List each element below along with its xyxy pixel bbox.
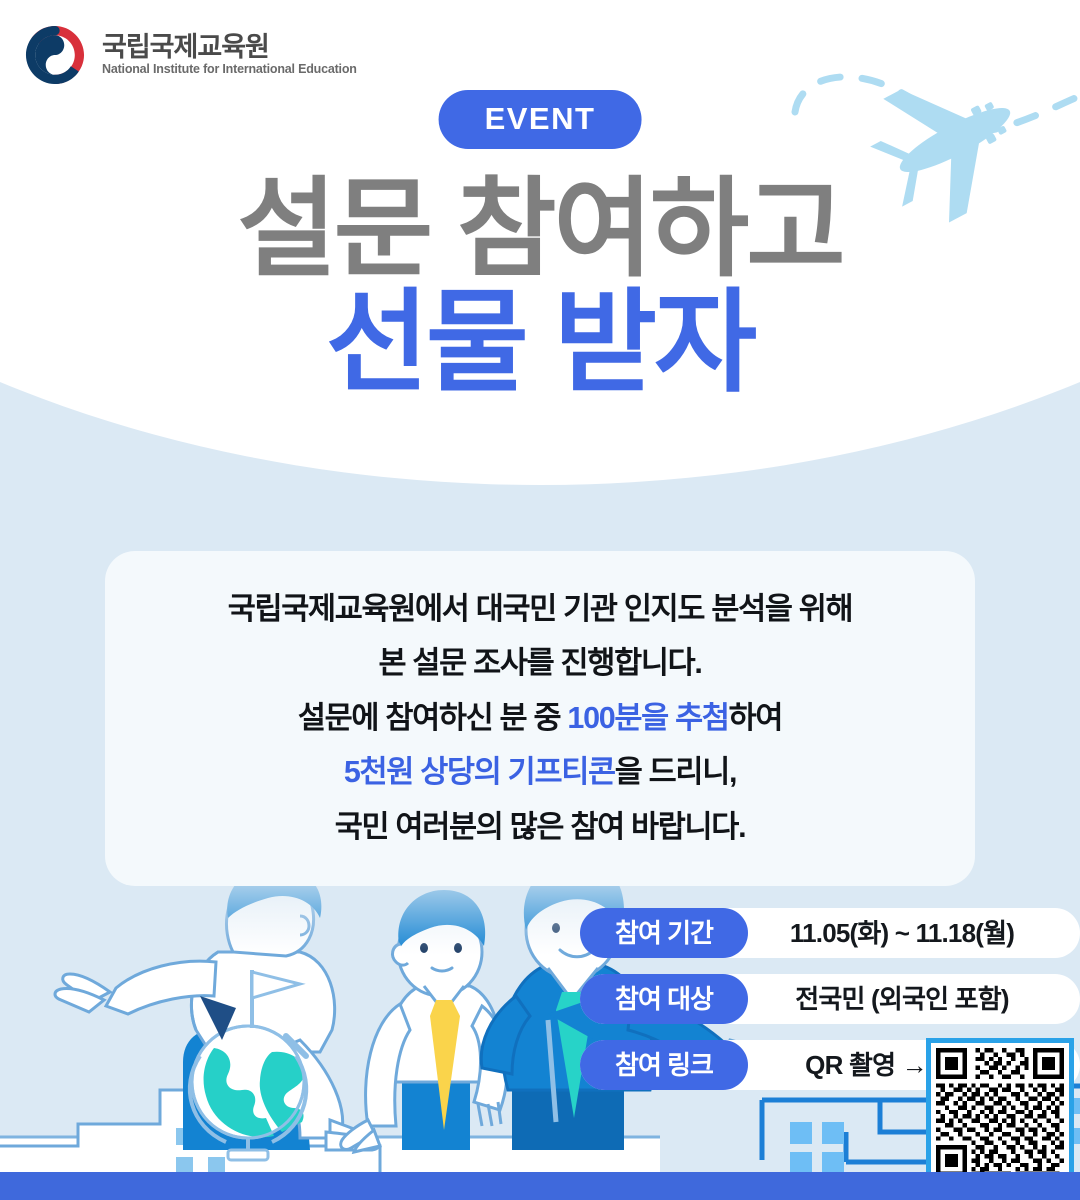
headline-line-1: 설문 참여하고 [0, 176, 1080, 282]
info-value: 11.05(화) ~ 11.18(월) [748, 920, 1056, 946]
info-value: 전국민 (외국인 포함) [748, 986, 1056, 1012]
description-text: 을 드리니, [615, 755, 736, 789]
brand-name-ko: 국립국제교육원 [102, 33, 357, 61]
description-line: 설문에 참여하신 분 중 100분을 추첨하여 [298, 694, 782, 743]
description-text: 하여 [729, 701, 783, 735]
description-highlight: 100분을 추첨 [567, 701, 728, 735]
description-text: 설문에 참여하신 분 중 [298, 701, 568, 735]
footer-bar [0, 1172, 1080, 1200]
description-line: 본 설문 조사를 진행합니다. [378, 639, 701, 688]
brand-logo: 국립국제교육원 National Institute for Internati… [22, 22, 357, 88]
info-label-pill: 참여 기간 [580, 908, 748, 958]
page-title: 설문 참여하고 선물 받자 [0, 176, 1080, 398]
description-card: 국립국제교육원에서 대국민 기관 인지도 분석을 위해본 설문 조사를 진행합니… [105, 551, 975, 886]
description-line: 5천원 상당의 기프티콘을 드리니, [344, 748, 736, 797]
qr-code[interactable] [926, 1038, 1074, 1186]
korea-government-taegeuk-emblem [22, 22, 88, 88]
event-badge: EVENT [439, 90, 642, 149]
description-text: 국민 여러분의 많은 참여 바랍니다. [335, 810, 746, 844]
description-highlight: 5천원 상당의 기프티콘 [344, 755, 615, 789]
description-line: 국립국제교육원에서 대국민 기관 인지도 분석을 위해 [228, 585, 853, 634]
info-row: 참여 대상전국민 (외국인 포함) [580, 974, 1080, 1024]
qr-code-icon [936, 1048, 1064, 1176]
brand-name-en: National Institute for International Edu… [102, 63, 357, 77]
headline-line-2: 선물 받자 [0, 288, 1080, 398]
description-text: 본 설문 조사를 진행합니다. [378, 646, 701, 680]
poster-canvas: 국립국제교육원 National Institute for Internati… [0, 0, 1080, 1200]
info-label-pill: 참여 링크 [580, 1040, 748, 1090]
description-text: 국립국제교육원에서 대국민 기관 인지도 분석을 위해 [228, 592, 853, 626]
description-line: 국민 여러분의 많은 참여 바랍니다. [335, 803, 746, 852]
info-label-pill: 참여 대상 [580, 974, 748, 1024]
info-row: 참여 기간11.05(화) ~ 11.18(월) [580, 908, 1080, 958]
